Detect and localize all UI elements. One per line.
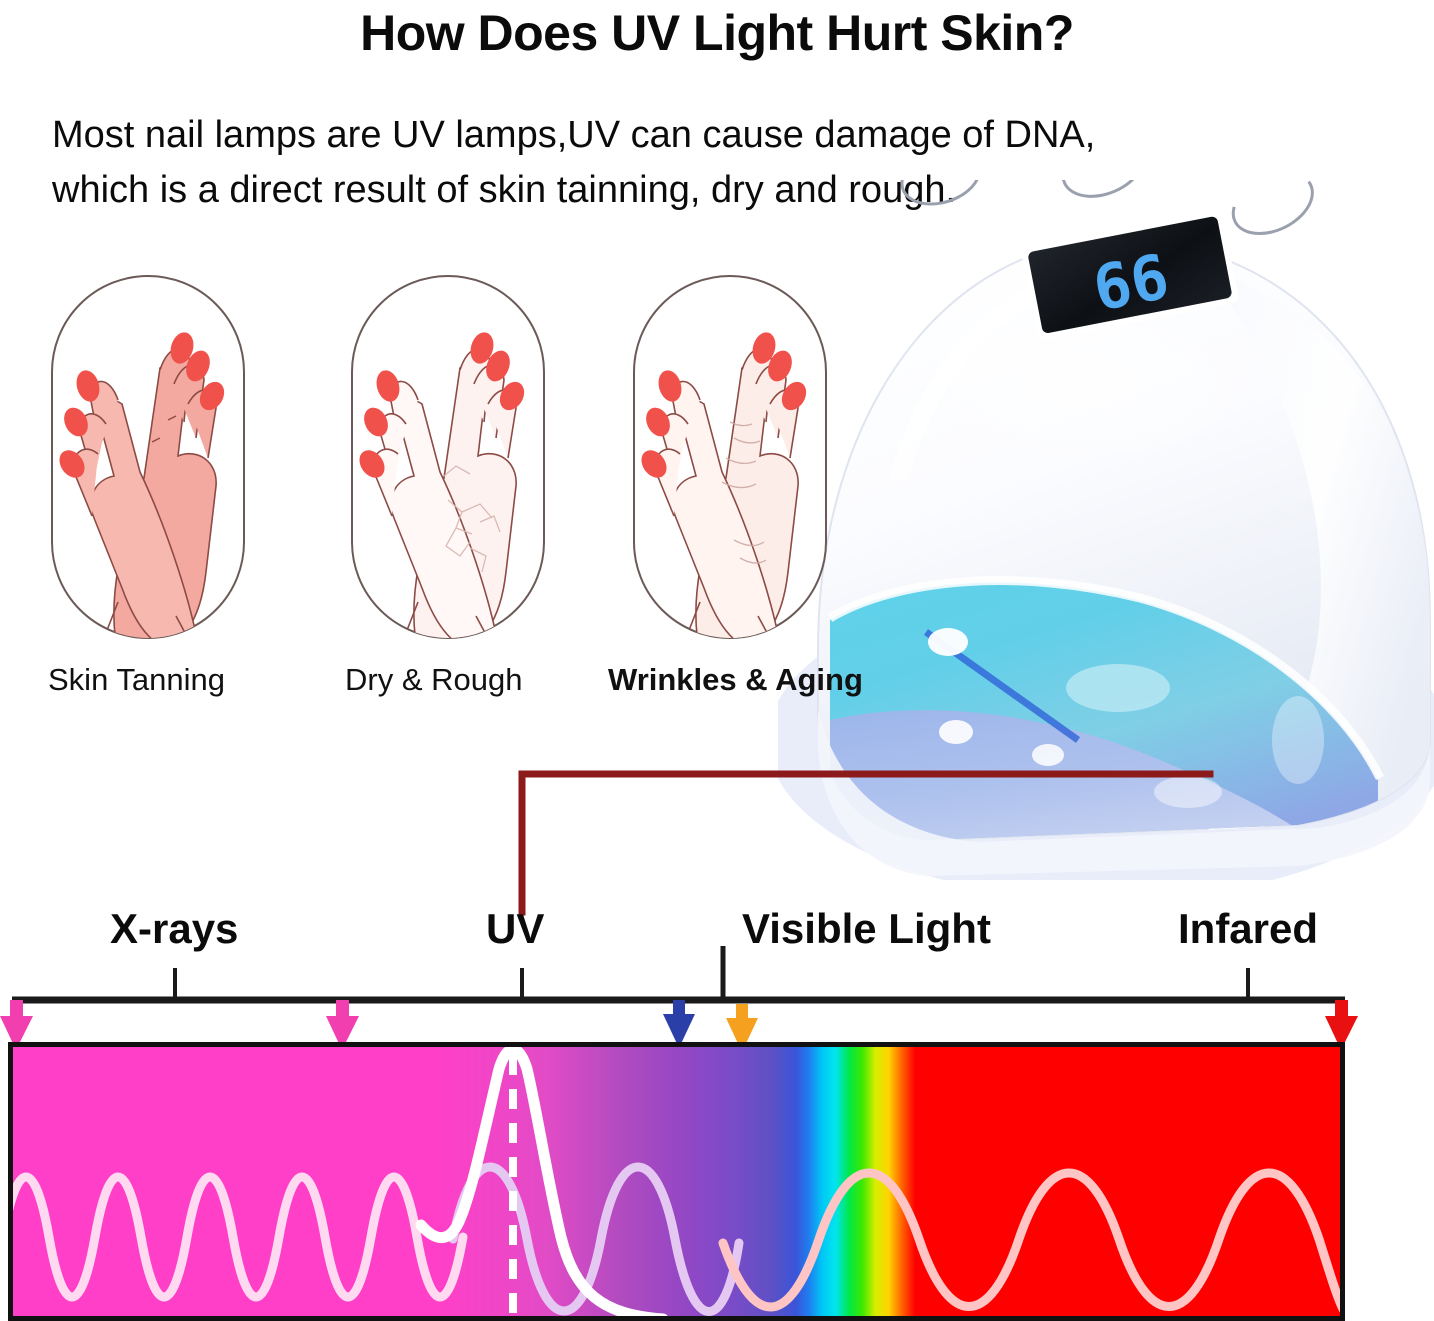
short-wave-xray	[13, 1177, 463, 1297]
mid-wave-uv	[453, 1167, 739, 1312]
lamp-button-60s: 60s	[1058, 180, 1207, 208]
lamp-button-30s	[899, 180, 987, 213]
panel-caption-wrinkles-aging: Wrinkles & Aging	[608, 662, 863, 698]
svg-text:99s: 99s	[1328, 180, 1365, 185]
page-title: How Does UV Light Hurt Skin?	[0, 4, 1434, 62]
spectrum-waveforms	[13, 1047, 1340, 1316]
lamp-button-99s: 99s	[1227, 180, 1373, 246]
effect-panel-skin-tanning	[48, 272, 248, 647]
panel-caption-skin-tanning: Skin Tanning	[48, 662, 225, 698]
spectrum-axis-layer	[0, 946, 1434, 1056]
visible-arrow-1	[663, 1000, 695, 1048]
panel-caption-dry-rough: Dry & Rough	[345, 662, 522, 698]
effect-panel-wrinkles-aging	[630, 272, 830, 647]
lamp-display-value: 99	[1087, 238, 1174, 324]
infographic-page: How Does UV Light Hurt Skin? Most nail l…	[0, 0, 1434, 1321]
effect-panel-dry-rough	[348, 272, 548, 647]
subtitle-line-1: Most nail lamps are UV lamps,UV can caus…	[52, 114, 1095, 156]
uv-callout-connector	[500, 760, 1230, 920]
electromagnetic-spectrum-band	[8, 1042, 1345, 1321]
long-wave-ir	[723, 1173, 1340, 1309]
